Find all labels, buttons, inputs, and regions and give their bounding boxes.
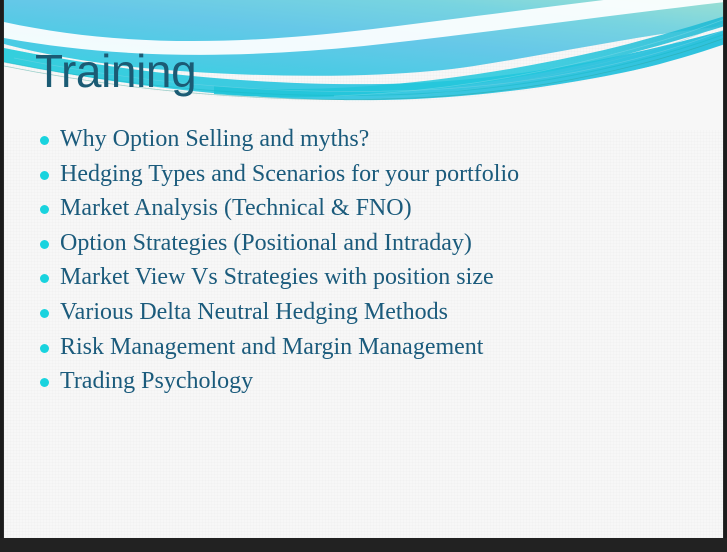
bullet-list: Why Option Selling and myths? Hedging Ty… (34, 122, 674, 399)
list-item: Risk Management and Margin Management (34, 330, 674, 365)
bullet-dot-icon (40, 205, 49, 214)
bullet-dot-icon (40, 309, 49, 318)
list-item-label: Trading Psychology (60, 364, 253, 399)
presentation-slide: Training Why Option Selling and myths? H… (0, 0, 727, 552)
slide-canvas: Training Why Option Selling and myths? H… (3, 0, 724, 538)
list-item-label: Various Delta Neutral Hedging Methods (60, 295, 448, 330)
list-item-label: Hedging Types and Scenarios for your por… (60, 157, 519, 192)
bullet-dot-icon (40, 274, 49, 283)
list-item: Option Strategies (Positional and Intrad… (34, 226, 674, 261)
bottom-frame-bar (0, 538, 727, 552)
list-item: Market Analysis (Technical & FNO) (34, 191, 674, 226)
list-item-label: Why Option Selling and myths? (60, 122, 369, 157)
list-item: Hedging Types and Scenarios for your por… (34, 157, 674, 192)
bullet-dot-icon (40, 136, 49, 145)
bullet-dot-icon (40, 378, 49, 387)
list-item: Trading Psychology (34, 364, 674, 399)
list-item-label: Market Analysis (Technical & FNO) (60, 191, 412, 226)
list-item: Why Option Selling and myths? (34, 122, 674, 157)
bullet-dot-icon (40, 171, 49, 180)
list-item-label: Market View Vs Strategies with position … (60, 260, 494, 295)
list-item: Various Delta Neutral Hedging Methods (34, 295, 674, 330)
page-title: Training (35, 48, 196, 94)
list-item: Market View Vs Strategies with position … (34, 260, 674, 295)
list-item-label: Option Strategies (Positional and Intrad… (60, 226, 472, 261)
left-frame-edge (0, 0, 3, 552)
bullet-dot-icon (40, 240, 49, 249)
list-item-label: Risk Management and Margin Management (60, 330, 483, 365)
bullet-dot-icon (40, 344, 49, 353)
